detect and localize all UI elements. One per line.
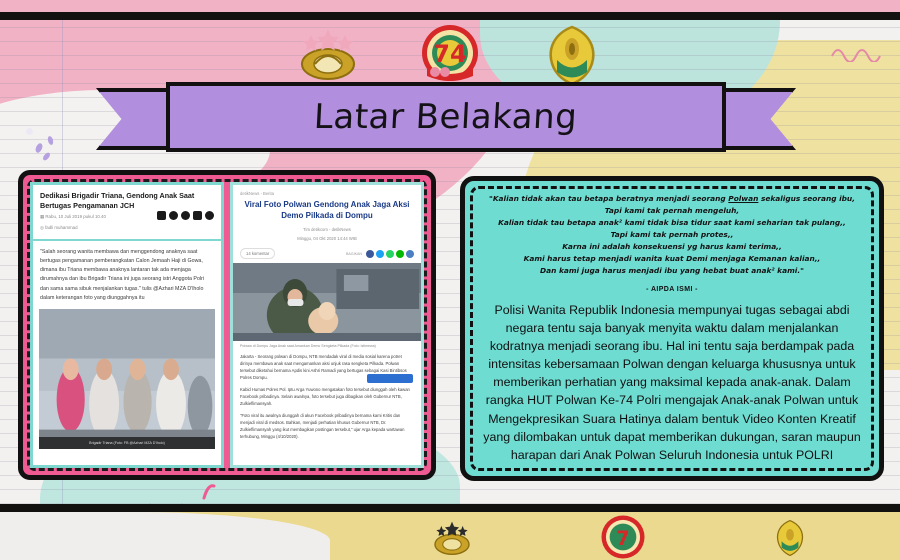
news-article-left[interactable]: Dedikasi Brigadir Triana, Gendong Anak S… (30, 182, 224, 468)
quote-line-4: Karna ini adalah konsekuensi yg harus ka… (481, 241, 863, 253)
footer-yellow-strip: 7 (0, 512, 900, 560)
facebook-icon[interactable] (366, 250, 374, 258)
article-right-headline: Viral Foto Polwan Gendong Anak Jaga Aksi… (233, 198, 421, 224)
polri-emblem (297, 24, 359, 86)
quote-line-5: Kami harus tetap menjadi wanita kuat Dem… (481, 253, 863, 265)
person-icon: ◎ (40, 225, 44, 230)
article-left-body: "Salah seorang wanita membawa dan mengge… (33, 241, 221, 311)
hut-polwan-number: 74 (433, 40, 466, 68)
top-black-bar (0, 12, 900, 20)
footer-institution-emblem (770, 518, 810, 558)
news-article-right[interactable]: detikNews - Berita Viral Foto Polwan Gen… (230, 182, 424, 468)
article-left-photo-caption: Brigadir Triana (Foto: FB @Azhari MZA D'… (39, 437, 215, 449)
youtube-icon[interactable] (181, 211, 190, 220)
slide-canvas: 7 (0, 0, 900, 560)
twitter-icon[interactable] (376, 250, 384, 258)
article-right-action-row: 14 komentar BAGIKAN (233, 243, 421, 263)
article-right-breadcrumb[interactable]: detikNews - Berita (233, 185, 421, 198)
svg-text:7: 7 (616, 527, 629, 550)
line-icon[interactable] (396, 250, 404, 258)
top-pink-strip (0, 0, 900, 12)
institution-emblem (541, 24, 603, 86)
quote-line-3: Tapi kami tak pernah protes,, (481, 229, 863, 241)
quote-line-6: Dan kami juga harus menjadi ibu yang heb… (481, 265, 863, 277)
article-right-body-2: Kabid Humas Polres Pol. Iptu Arga Yuwono… (233, 384, 421, 409)
article-left-author: ◎ fadli muhammad (40, 225, 214, 232)
share-label: BAGIKAN (346, 252, 362, 256)
article-right-byline: Tim detikcom - detikNews (233, 224, 421, 234)
quote-block: "Kalian tidak akan tau betapa beratnya m… (481, 193, 863, 277)
footer-hut-polwan-logo: 7 (600, 514, 646, 560)
title-banner: Latar Belakang (96, 82, 796, 148)
description-paragraph: Polisi Wanita Republik Indonesia mempuny… (481, 301, 863, 464)
banner-body: Latar Belakang (166, 82, 726, 152)
description-card: "Kalian tidak akan tau betapa beratnya m… (460, 176, 884, 481)
confetti-dot-4 (26, 128, 33, 135)
article-right-timestamp: Minggu, 04 Okt 2020 14:44 WIB (233, 233, 421, 243)
quote-line-0: "Kalian tidak akan tau betapa beratnya m… (481, 193, 863, 205)
bottom-black-bar (0, 504, 900, 512)
quote-attribution: - AIPDA ISMI - (481, 286, 863, 293)
facebook-icon[interactable] (157, 211, 166, 220)
instagram-icon[interactable] (169, 211, 178, 220)
article-right-share-row[interactable]: BAGIKAN (346, 250, 414, 258)
comment-count-badge[interactable]: 14 komentar (240, 248, 275, 259)
whatsapp-icon[interactable] (386, 250, 394, 258)
article-left-photo: Brigadir Triana (Foto: FB @Azhari MZA D'… (39, 309, 215, 449)
footer-white-shape (0, 512, 330, 560)
quote-line-2: Kalian tidak tau betapa anak² kami tidak… (481, 217, 863, 229)
article-left-headline: Dedikasi Brigadir Triana, Gendong Anak S… (40, 191, 214, 210)
hut-polwan-74-logo: 74 (419, 24, 481, 86)
article-right-body-3: "Foto viral itu awalnya diunggah di akun… (233, 409, 421, 444)
emblem-row: 74 (0, 20, 900, 90)
twitter-icon[interactable] (193, 211, 202, 220)
whatsapp-icon[interactable] (205, 211, 214, 220)
squiggle-decoration-4 (200, 480, 226, 502)
footer-polri-emblem (430, 516, 474, 560)
article-right-photo-caption: Polwan di Dompu Jaga Anak saat Amankan D… (233, 341, 421, 351)
article-right-photo (233, 263, 421, 341)
quote-line-1: Tapi kami tak pernah mengeluh, (481, 205, 863, 217)
calendar-icon: ▦ (40, 214, 44, 219)
article-left-share-row[interactable] (157, 211, 214, 220)
page-title: Latar Belakang (313, 97, 578, 137)
news-clipping-frame: Dedikasi Brigadir Triana, Gendong Anak S… (18, 170, 436, 480)
email-icon[interactable] (406, 250, 414, 258)
read-more-button[interactable] (367, 374, 413, 383)
